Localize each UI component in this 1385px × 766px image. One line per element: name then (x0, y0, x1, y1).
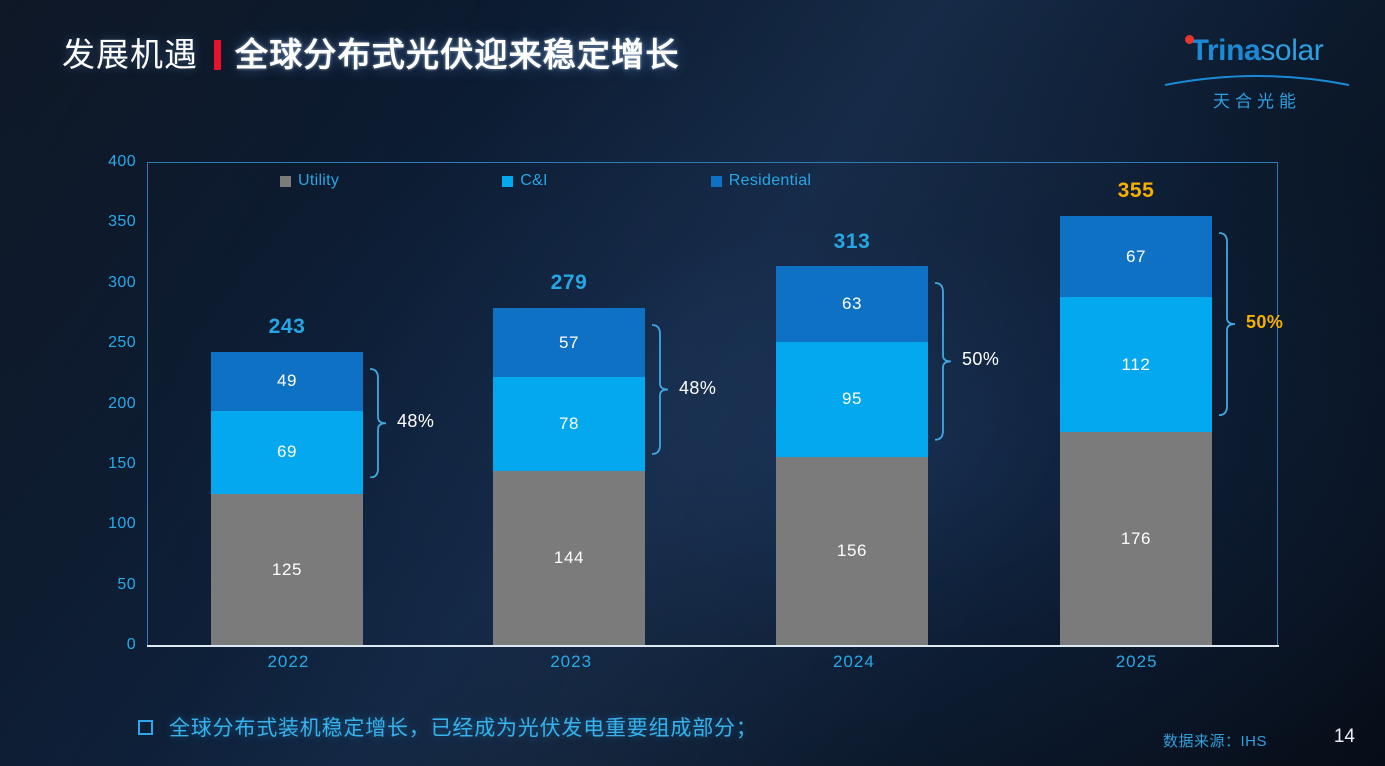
y-axis-tick-0: 0 (92, 636, 136, 654)
bar-segment-2023-utility[interactable]: 144 (493, 471, 645, 645)
y-axis-tick-300: 300 (92, 274, 136, 292)
logo-wordmark: Trinasolar (1157, 36, 1357, 66)
bar-segment-value: 95 (842, 389, 862, 409)
legend-label: C&I (520, 172, 548, 190)
bar-segment-value: 67 (1126, 247, 1146, 267)
y-axis-tick-50: 50 (92, 576, 136, 594)
y-axis-tick-200: 200 (92, 395, 136, 413)
bar-segment-2024-residential[interactable]: 63 (776, 266, 928, 342)
bar-segment-2024-utility[interactable]: 156 (776, 457, 928, 645)
x-axis-label-2024: 2024 (713, 652, 996, 684)
percentage-bracket-2024 (934, 282, 960, 441)
y-axis-tick-150: 150 (92, 455, 136, 473)
x-axis-label-2025: 2025 (995, 652, 1278, 684)
bar-segment-value: 176 (1121, 529, 1151, 549)
page-title: 全球分布式光伏迎来稳定增长 (235, 38, 680, 71)
percentage-bracket-2023 (651, 324, 677, 455)
bar-total-label-2024: 313 (776, 230, 928, 254)
bar-segment-2025-utility[interactable]: 176 (1060, 432, 1212, 645)
trina-solar-logo: Trinasolar 天合光能 (1157, 36, 1357, 112)
bar-segment-2025-residential[interactable]: 67 (1060, 216, 1212, 297)
bar-segment-2023-residential[interactable]: 57 (493, 308, 645, 377)
footer-bullet-text: 全球分布式装机稳定增长，已经成为光伏发电重要组成部分； (169, 712, 758, 742)
percentage-label-2022: 48% (397, 411, 434, 432)
y-axis-ticks: 400350300250200150100500 (88, 162, 136, 645)
percentage-bracket-2025 (1218, 232, 1244, 416)
x-axis-label-2023: 2023 (430, 652, 713, 684)
bar-group-2022[interactable]: 4969125 (211, 352, 363, 645)
bar-segment-2023-ci[interactable]: 78 (493, 377, 645, 471)
stacked-bar-chart: 400350300250200150100500 UtilityC&IResid… (0, 0, 1385, 766)
bar-segment-value: 69 (277, 442, 297, 462)
bar-segment-value: 57 (559, 333, 579, 353)
bar-total-label-2023: 279 (493, 271, 645, 295)
page-number: 14 (1334, 726, 1355, 748)
y-axis-tick-100: 100 (92, 515, 136, 533)
y-axis-tick-400: 400 (92, 153, 136, 171)
bar-group-2023[interactable]: 5778144 (493, 308, 645, 645)
legend-label: Utility (298, 172, 339, 190)
x-axis-line (147, 645, 1279, 647)
percentage-bracket-2022 (369, 368, 395, 478)
bar-segment-2022-ci[interactable]: 69 (211, 411, 363, 494)
legend-swatch-icon (502, 176, 513, 187)
logo-word-primary: Trina (1191, 34, 1261, 67)
chart-legend: UtilityC&IResidential (280, 172, 811, 190)
bar-segment-2024-ci[interactable]: 95 (776, 342, 928, 457)
percentage-label-2025: 50% (1246, 312, 1283, 333)
logo-arc-icon (1157, 72, 1357, 86)
logo-dot-icon (1185, 35, 1194, 44)
bar-segment-value: 125 (272, 560, 302, 580)
bar-group-2025[interactable]: 67112176 (1060, 216, 1212, 645)
footer-bullet-row: 全球分布式装机稳定增长，已经成为光伏发电重要组成部分； (138, 712, 758, 742)
x-axis-label-2022: 2022 (147, 652, 430, 684)
data-source-note: 数据来源：IHS (1163, 730, 1267, 751)
title-kicker: 发展机遇 (62, 38, 198, 71)
bar-segment-value: 78 (559, 414, 579, 434)
y-axis-tick-250: 250 (92, 334, 136, 352)
legend-swatch-icon (711, 176, 722, 187)
logo-word-secondary: solar (1260, 34, 1323, 67)
legend-item-residential[interactable]: Residential (711, 172, 811, 190)
legend-label: Residential (729, 172, 811, 190)
bar-segment-value: 49 (277, 371, 297, 391)
bar-groups: 496912524348%577814427948%639515631350%6… (147, 162, 1278, 645)
bar-segment-2025-ci[interactable]: 112 (1060, 297, 1212, 432)
bar-segment-2022-utility[interactable]: 125 (211, 494, 363, 645)
x-axis-labels: 2022202320242025 (147, 652, 1278, 684)
y-axis-tick-350: 350 (92, 213, 136, 231)
square-bullet-icon (138, 720, 153, 735)
legend-item-ci[interactable]: C&I (502, 172, 548, 190)
percentage-label-2024: 50% (962, 349, 999, 370)
slide-canvas: 发展机遇 全球分布式光伏迎来稳定增长 Trinasolar 天合光能 40035… (0, 0, 1385, 766)
bar-segment-2022-residential[interactable]: 49 (211, 352, 363, 411)
title-separator-bar (214, 40, 221, 70)
bar-group-2024[interactable]: 6395156 (776, 266, 928, 645)
bar-segment-value: 63 (842, 294, 862, 314)
bar-segment-value: 156 (837, 541, 867, 561)
slide-header: 发展机遇 全球分布式光伏迎来稳定增长 (62, 38, 680, 71)
bar-segment-value: 144 (554, 548, 584, 568)
percentage-label-2023: 48% (679, 378, 716, 399)
bar-total-label-2022: 243 (211, 315, 363, 339)
logo-chinese-name: 天合光能 (1157, 87, 1357, 112)
bar-segment-value: 112 (1122, 355, 1151, 375)
legend-swatch-icon (280, 176, 291, 187)
bar-total-label-2025: 355 (1060, 179, 1212, 203)
legend-item-utility[interactable]: Utility (280, 172, 339, 190)
